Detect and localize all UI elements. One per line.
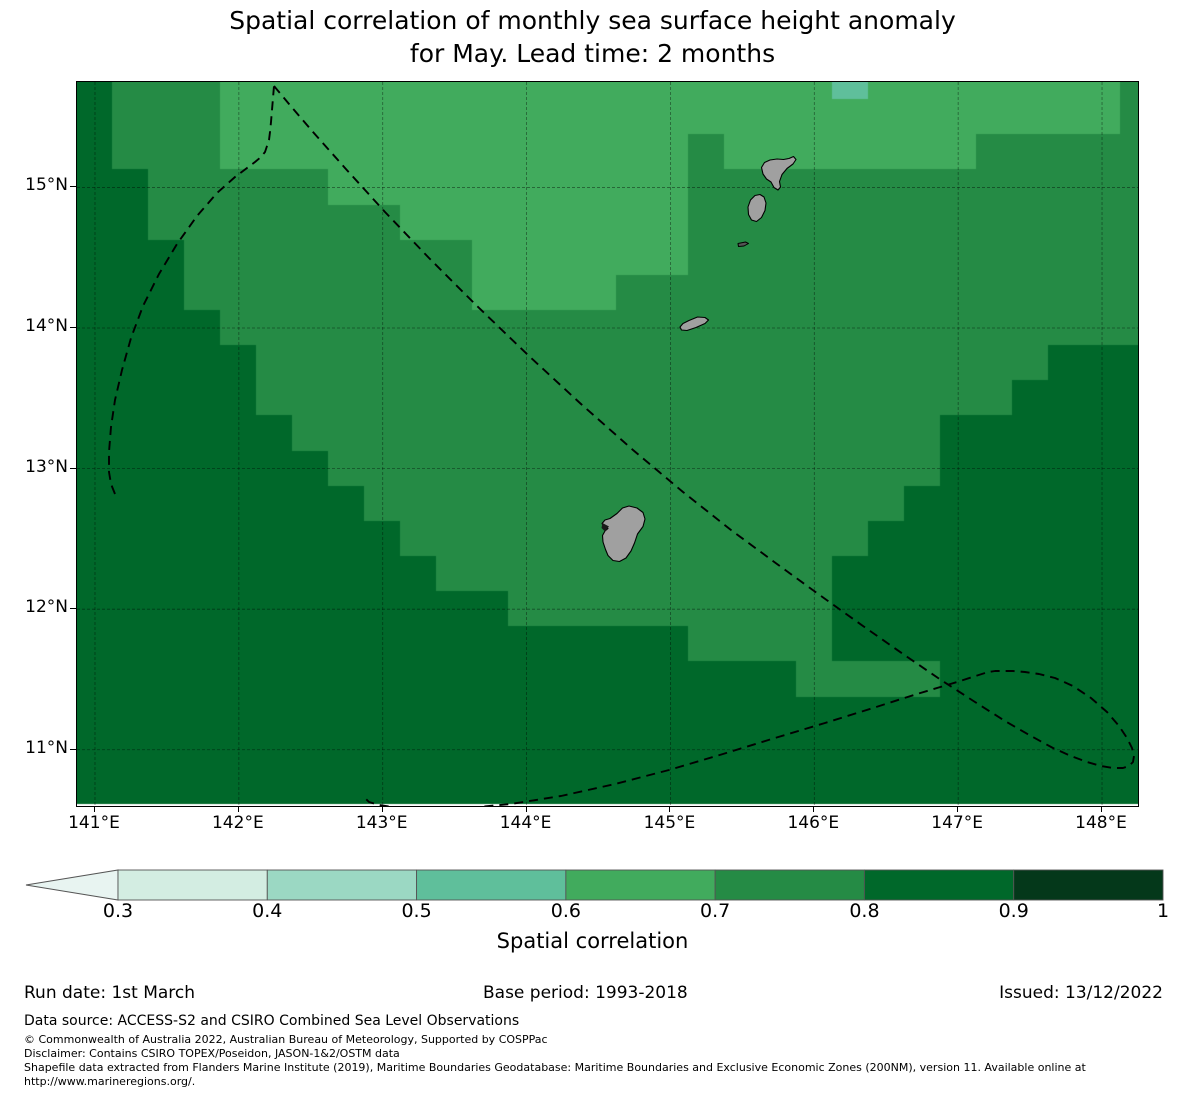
island-guam (602, 506, 645, 562)
colorbar-band-4 (715, 870, 864, 900)
y-tick-mark (70, 327, 76, 328)
colorbar-band-0 (118, 870, 267, 900)
colorbar-tick-0.3: 0.3 (103, 900, 133, 922)
colorbar-tick-0.5: 0.5 (401, 900, 431, 922)
colorbar-band-5 (864, 870, 1013, 900)
y-tick-15: 15°N (25, 177, 68, 194)
colorbar-tick-0.9: 0.9 (999, 900, 1029, 922)
colorbar-band-3 (566, 870, 715, 900)
y-tick-mark (70, 608, 76, 609)
x-tick-mark (813, 806, 814, 812)
y-tick-mark (70, 749, 76, 750)
x-tick-mark (957, 806, 958, 812)
y-tick-14: 14°N (25, 318, 68, 335)
island-saipan (762, 157, 797, 191)
x-tick-143: 143°E (356, 814, 408, 833)
y-tick-13: 13°N (25, 459, 68, 476)
colorbar-extend-min-arrow (26, 870, 118, 900)
x-tick-mark (526, 806, 527, 812)
metadata-row: Run date: 1st March Base period: 1993-20… (0, 983, 1185, 1005)
y-tick-12: 12°N (25, 599, 68, 616)
base-period-label: Base period: 1993-2018 (483, 983, 688, 1004)
x-tick-mark (669, 806, 670, 812)
colorbar-band-2 (417, 870, 566, 900)
credits-block: Data source: ACCESS-S2 and CSIRO Combine… (24, 1012, 1174, 1089)
island-tinian (748, 195, 766, 222)
colorbar-band-6 (1014, 870, 1163, 900)
chart-title: Spatial correlation of monthly sea surfa… (0, 4, 1185, 70)
x-tick-144: 144°E (500, 814, 552, 833)
x-tick-145: 145°E (644, 814, 696, 833)
colorbar-title: Spatial correlation (0, 929, 1185, 954)
x-tick-148: 148°E (1075, 814, 1127, 833)
eez-boundary-line (109, 82, 1134, 806)
island-aguijan (738, 242, 749, 247)
x-tick-mark (1101, 806, 1102, 812)
gridlines (77, 82, 1138, 806)
issued-date-label: Issued: 13/12/2022 (999, 983, 1163, 1004)
colorbar-tick-1: 1 (1157, 900, 1169, 922)
shapefile-credit-label: Shapefile data extracted from Flanders M… (24, 1061, 1174, 1089)
copyright-label: © Commonwealth of Australia 2022, Austra… (24, 1033, 1174, 1047)
data-source-label: Data source: ACCESS-S2 and CSIRO Combine… (24, 1012, 1174, 1030)
y-tick-mark (70, 468, 76, 469)
colorbar-tick-0.4: 0.4 (252, 900, 282, 922)
x-tick-146: 146°E (787, 814, 839, 833)
colorbar-tick-0.7: 0.7 (700, 900, 730, 922)
disclaimer-label: Disclaimer: Contains CSIRO TOPEX/Poseido… (24, 1047, 1174, 1061)
x-tick-147: 147°E (931, 814, 983, 833)
map-plot-area (76, 81, 1139, 807)
y-tick-11: 11°N (25, 740, 68, 757)
colorbar-tick-0.6: 0.6 (551, 900, 581, 922)
x-tick-142: 142°E (212, 814, 264, 833)
island-rota (680, 317, 709, 331)
x-tick-mark (382, 806, 383, 812)
map-overlay (77, 82, 1138, 806)
run-date-label: Run date: 1st March (24, 983, 195, 1004)
colorbar-tick-0.8: 0.8 (849, 900, 879, 922)
x-tick-mark (94, 806, 95, 812)
y-tick-mark (70, 186, 76, 187)
x-tick-mark (238, 806, 239, 812)
colorbar-band-1 (267, 870, 416, 900)
land-polygons (602, 157, 797, 562)
x-tick-141: 141°E (68, 814, 120, 833)
